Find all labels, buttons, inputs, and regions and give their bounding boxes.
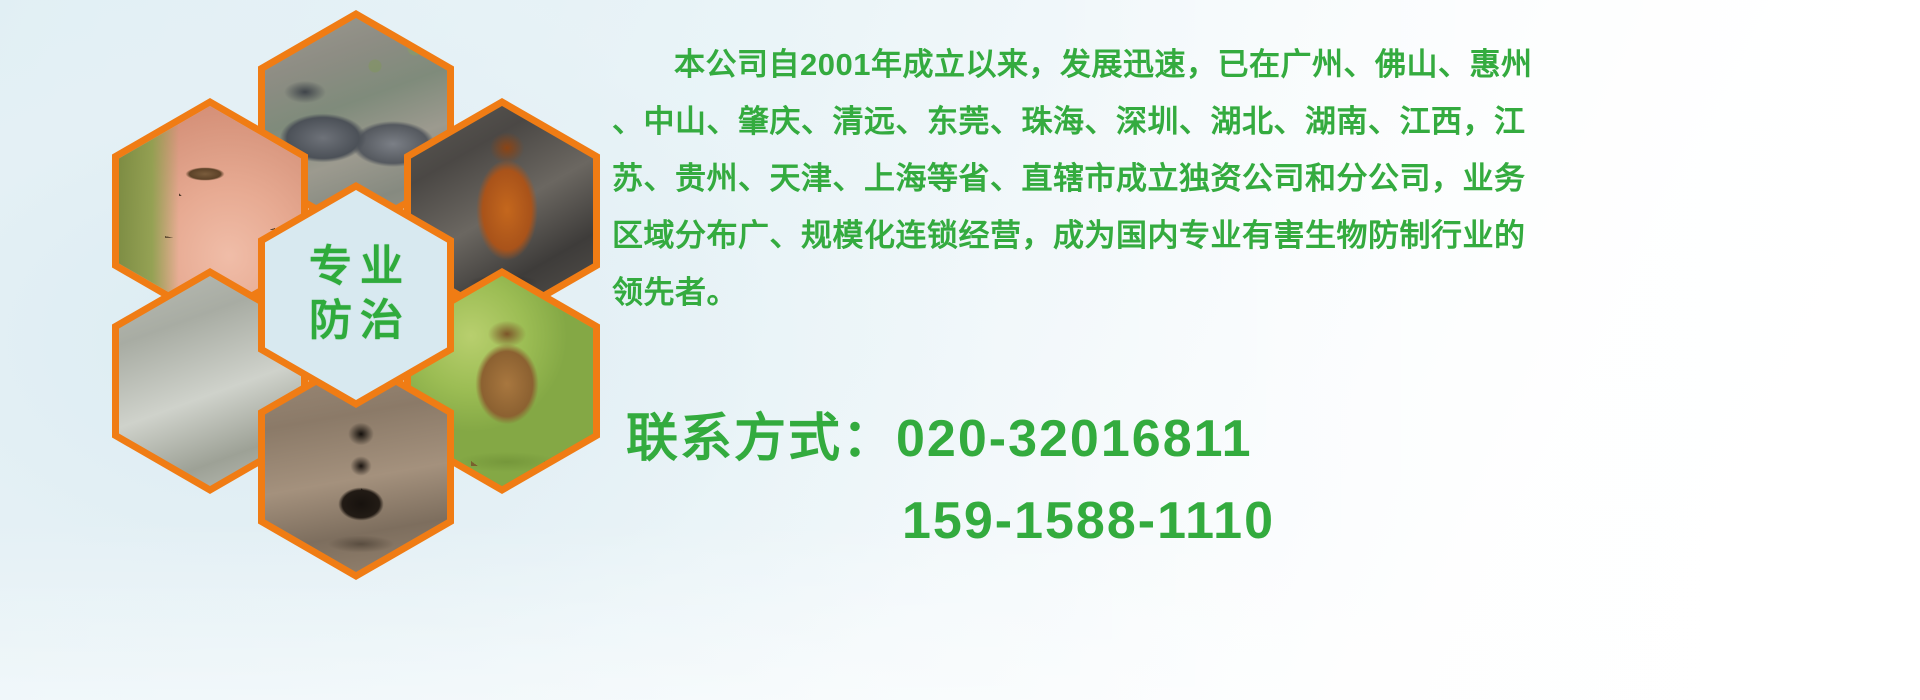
description-line-1: 本公司自2001年成立以来，发展迅速，已在广州、佛山、惠州 <box>612 36 1852 93</box>
contact-primary-line: 联系方式：020-32016811 <box>626 398 1876 480</box>
promo-banner: 专业 防治 本公司自2001年成立以来，发展迅速，已在广州、佛山、惠州 、中山、… <box>0 0 1920 700</box>
contact-block: 联系方式：020-32016811 159-1588-1110 <box>626 398 1876 562</box>
description-line-5: 领先者。 <box>612 264 1852 321</box>
contact-label: 联系方式： <box>626 410 896 468</box>
description-line-3: 苏、贵州、天津、上海等省、直辖市成立独资公司和分公司，业务 <box>612 150 1852 207</box>
contact-phone-primary[interactable]: 020-32016811 <box>896 410 1253 468</box>
contact-phone-secondary[interactable]: 159-1588-1110 <box>626 480 1876 562</box>
company-description: 本公司自2001年成立以来，发展迅速，已在广州、佛山、惠州 、中山、肇庆、清远、… <box>612 36 1852 321</box>
description-line-2: 、中山、肇庆、清远、东莞、珠海、深圳、湖北、湖南、江西，江 <box>612 93 1852 150</box>
slogan-line-1: 专业 <box>301 241 411 295</box>
description-line-1-text: 本公司自2001年成立以来，发展迅速，已在广州、佛山、惠州 <box>674 47 1532 82</box>
hexagon-photo-cluster: 专业 防治 <box>86 10 586 570</box>
slogan-line-2: 防治 <box>301 295 411 349</box>
description-line-4: 区域分布广、规模化连锁经营，成为国内专业有害生物防制行业的 <box>612 207 1852 264</box>
